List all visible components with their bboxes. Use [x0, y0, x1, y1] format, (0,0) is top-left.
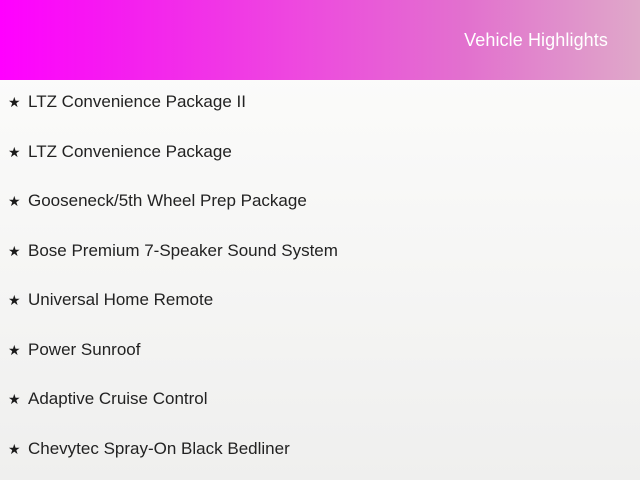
page-title: Vehicle Highlights	[464, 30, 608, 50]
list-item: ★Bose Premium 7-Speaker Sound System	[0, 241, 640, 291]
star-icon: ★	[8, 389, 28, 409]
list-item: ★Power Sunroof	[0, 340, 640, 390]
panel-header: Vehicle Highlights	[0, 0, 640, 80]
highlight-label: Gooseneck/5th Wheel Prep Package	[28, 191, 640, 211]
star-icon: ★	[8, 142, 28, 162]
star-icon: ★	[8, 191, 28, 211]
list-item: ★LTZ Convenience Package II	[0, 92, 640, 142]
highlight-label: LTZ Convenience Package II	[28, 92, 640, 112]
highlight-label: Chevytec Spray-On Black Bedliner	[28, 439, 640, 459]
highlight-label: Universal Home Remote	[28, 290, 640, 310]
vehicle-highlights-panel: Vehicle Highlights ★LTZ Convenience Pack…	[0, 0, 640, 480]
star-icon: ★	[8, 340, 28, 360]
list-item: ★Adaptive Cruise Control	[0, 389, 640, 439]
star-icon: ★	[8, 290, 28, 310]
highlight-label: Bose Premium 7-Speaker Sound System	[28, 241, 640, 261]
highlight-label: LTZ Convenience Package	[28, 142, 640, 162]
list-item: ★Universal Home Remote	[0, 290, 640, 340]
star-icon: ★	[8, 439, 28, 459]
list-item: ★Gooseneck/5th Wheel Prep Package	[0, 191, 640, 241]
star-icon: ★	[8, 241, 28, 261]
highlight-label: Power Sunroof	[28, 340, 640, 360]
highlight-label: Adaptive Cruise Control	[28, 389, 640, 409]
list-item: ★Chevytec Spray-On Black Bedliner	[0, 439, 640, 480]
star-icon: ★	[8, 92, 28, 112]
vehicle-highlights-list: ★LTZ Convenience Package II★LTZ Convenie…	[0, 80, 640, 480]
list-item: ★LTZ Convenience Package	[0, 142, 640, 192]
